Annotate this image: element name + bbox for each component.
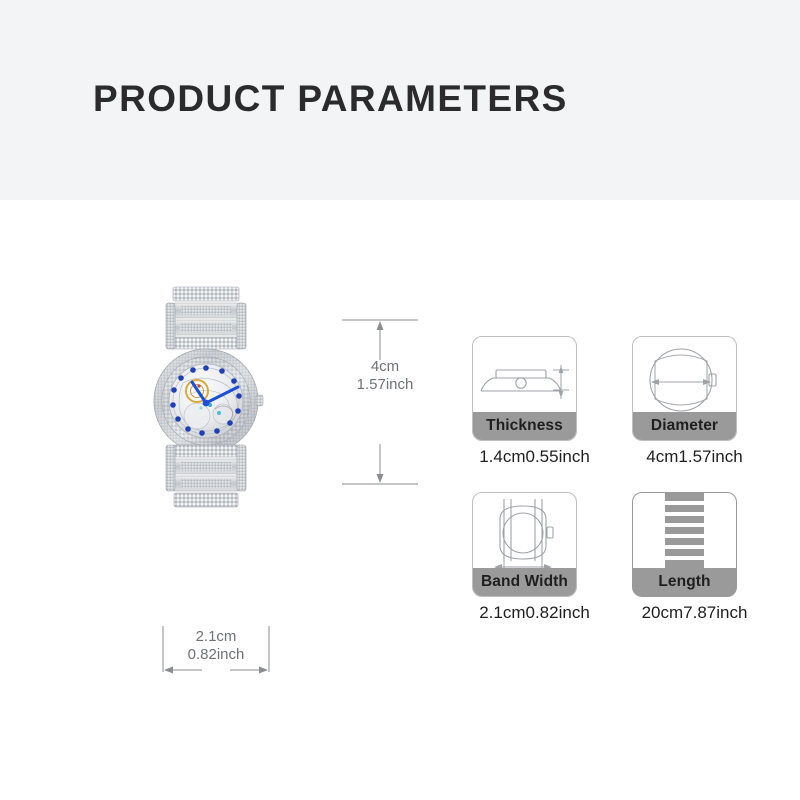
watch-photo-svg: [141, 283, 271, 511]
spec-card-length-box: Length: [632, 492, 737, 597]
dimension-band-width-label: 2.1cm 0.82inch: [158, 628, 274, 664]
dimension-case-height-cm: 4cm: [320, 358, 450, 376]
spec-card-thickness-label: Thickness: [473, 412, 576, 440]
page-title: PRODUCT PARAMETERS: [93, 78, 568, 120]
spec-card-band-width-label: Band Width: [473, 568, 576, 596]
spec-card-diameter-label: Diameter: [633, 412, 736, 440]
spec-card-diameter-box: Diameter: [632, 336, 737, 441]
bracelet-upper: [166, 287, 246, 349]
dimension-case-height-inch: 1.57inch: [320, 376, 450, 394]
spec-card-length-label: Length: [633, 568, 736, 596]
spec-card-band-width-caption: 2.1cm0.82inch: [472, 603, 597, 623]
spec-card-length: Length 20cm7.87inch: [632, 492, 772, 623]
dimension-case-height-label: 4cm 1.57inch: [320, 358, 450, 394]
product-parameters-page: PRODUCT PARAMETERS: [0, 0, 800, 800]
dimension-band-width-inch: 0.82inch: [158, 646, 274, 664]
dimension-case-height: [320, 312, 450, 492]
spec-card-diameter-caption: 4cm1.57inch: [632, 447, 757, 467]
spec-card-diameter: Diameter 4cm1.57inch: [632, 336, 772, 467]
spec-card-thickness: Thickness 1.4cm0.55inch: [472, 336, 612, 467]
spec-card-thickness-box: Thickness: [472, 336, 577, 441]
spec-card-band-width: Band Width 2.1cm0.82inch: [472, 492, 612, 623]
watch-product-photo: [141, 283, 271, 511]
bracelet-lower: [166, 445, 246, 507]
spec-card-length-caption: 20cm7.87inch: [632, 603, 757, 623]
dimension-vertical-svg: [320, 312, 450, 492]
spec-card-band-width-box: Band Width: [472, 492, 577, 597]
spec-card-thickness-caption: 1.4cm0.55inch: [472, 447, 597, 467]
dimension-band-width-cm: 2.1cm: [158, 628, 274, 646]
